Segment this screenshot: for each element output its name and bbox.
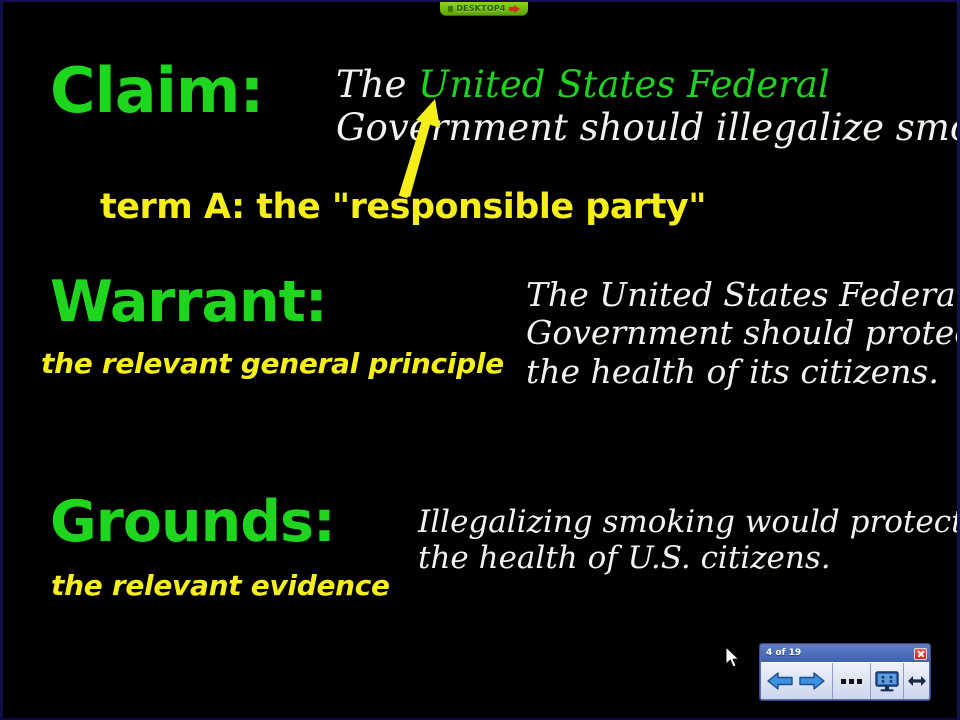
grounds-statement: Illegalizing smoking would protect the h… xyxy=(418,505,960,577)
next-slide-button[interactable] xyxy=(797,670,827,692)
slideshow-screen: DESKTOP4 Claim: The United States Federa… xyxy=(0,0,960,720)
slideshow-toolbar[interactable]: 4 of 19 xyxy=(760,644,930,700)
claim-text-highlight: United States Federal xyxy=(418,63,830,106)
ellipsis-icon xyxy=(841,679,862,684)
grounds-subtitle: the relevant evidence xyxy=(51,572,390,600)
claim-term-label: term A: the "responsible party" xyxy=(100,190,706,225)
grounds-line-2: the health of U.S. citizens. xyxy=(418,541,960,577)
warrant-line-1: The United States Federal xyxy=(526,276,960,314)
display-options-group xyxy=(871,663,904,699)
warrant-statement: The United States Federal Government sho… xyxy=(526,276,960,391)
warrant-line-2: Government should protect xyxy=(526,314,960,352)
claim-statement: The United States Federal Government sho… xyxy=(336,64,960,150)
monitor-icon xyxy=(874,670,900,693)
resize-handle-button[interactable] xyxy=(907,674,927,688)
left-arrow-icon xyxy=(765,670,795,692)
more-options-group xyxy=(833,663,871,699)
resize-group xyxy=(904,663,929,699)
desktop-switcher-tab[interactable]: DESKTOP4 xyxy=(440,2,528,16)
navigation-group xyxy=(761,663,833,699)
desktop-tab-label: DESKTOP4 xyxy=(456,5,505,13)
tab-grip-icon xyxy=(448,6,453,12)
toolbar-titlebar[interactable]: 4 of 19 xyxy=(761,645,929,662)
grounds-line-1: Illegalizing smoking would protect xyxy=(418,505,960,541)
toolbar-button-row xyxy=(761,662,929,699)
warrant-subtitle: the relevant general principle xyxy=(41,350,504,378)
horizontal-resize-icon xyxy=(907,674,927,688)
claim-text-after: Government should illegalize smoking. xyxy=(336,107,960,150)
warrant-line-3: the health of its citizens. xyxy=(526,353,960,391)
grounds-heading: Grounds: xyxy=(50,494,335,551)
close-icon[interactable] xyxy=(914,648,927,660)
more-options-button[interactable] xyxy=(841,679,862,684)
claim-text-before: The xyxy=(336,63,418,106)
warrant-heading: Warrant: xyxy=(50,274,327,331)
slide-counter: 4 of 19 xyxy=(766,649,801,658)
right-arrow-icon xyxy=(797,670,827,692)
right-arrow-icon xyxy=(509,5,520,14)
mouse-pointer-icon xyxy=(725,646,741,670)
previous-slide-button[interactable] xyxy=(765,670,795,692)
display-options-button[interactable] xyxy=(874,670,900,693)
claim-heading: Claim: xyxy=(50,60,263,122)
